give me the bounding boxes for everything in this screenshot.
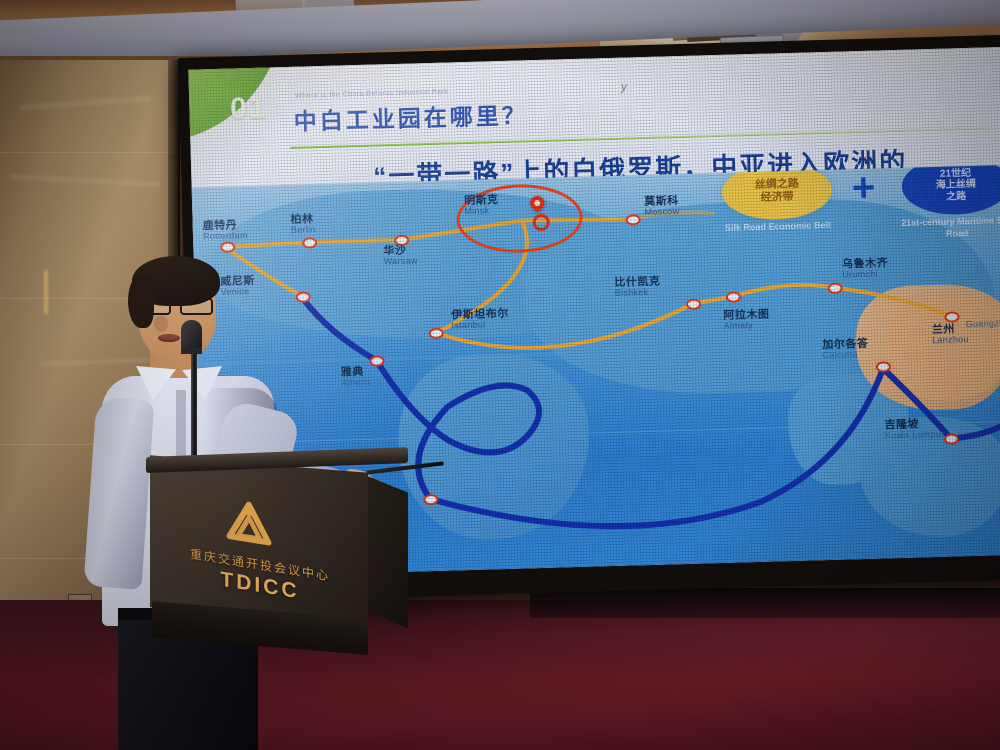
slide-heading-cn: 中白工业园在哪里？ xyxy=(293,96,528,137)
section-number: 01 xyxy=(230,92,268,127)
tdicc-triangle-logo-icon xyxy=(222,495,276,554)
legend-sea-line3: 之路 xyxy=(936,191,976,204)
podium-front-panel: 重庆交通开投会议中心 TDICC xyxy=(150,455,368,625)
city-label-bishkek: 比什凯克Bishkek xyxy=(614,277,661,298)
podium: 重庆交通开投会议中心 TDICC xyxy=(150,460,405,645)
legend-sea-en: 21st-century Maritime Silk Road xyxy=(893,215,1000,242)
city-label-istanbul: 伊斯坦布尔Istanbul xyxy=(451,309,509,331)
city-label-moscow: 莫斯科Moscow xyxy=(644,196,679,217)
slide-header: 01 Where is the China-Belarus Industrial… xyxy=(188,47,1000,188)
speaker-mouth xyxy=(158,334,180,342)
equals-icon: = xyxy=(990,173,1000,207)
city-label-calcutta: 加尔各答Calcutta xyxy=(822,339,869,360)
city-label-rotterdam: 鹿特丹Rotterdam xyxy=(203,220,248,241)
city-label-minsk: 明斯克Minsk xyxy=(464,195,499,216)
city-label-kuala-lumpur: 吉隆坡Kuala Lumpur xyxy=(884,419,944,441)
slide-heading-en: Where is the China-Belarus Industrial Pa… xyxy=(295,88,448,99)
plus-icon: + xyxy=(851,172,886,207)
city-label-guangzhou: Guangzhou xyxy=(966,319,1000,329)
microphone-stand xyxy=(191,338,197,474)
city-label-urumchi: 乌鲁木齐Urumchi xyxy=(842,258,889,279)
city-label-berlin: 柏林Berlin xyxy=(290,214,315,235)
legend-belt-line2: 经济带 xyxy=(755,191,799,205)
legend-belt-line1: 丝绸之路 xyxy=(755,178,799,192)
speaker-nose xyxy=(154,316,168,332)
speaker-hair-side xyxy=(128,274,154,328)
city-label-warsaw: 华沙Warsaw xyxy=(383,245,418,266)
microphone-collar xyxy=(181,348,202,354)
city-label-athens: 雅典Athens xyxy=(341,367,371,388)
photo-scene: 01 Where is the China-Belarus Industrial… xyxy=(0,0,1000,750)
stray-mark: y xyxy=(621,79,627,93)
legend-sea-line2: 海上丝绸 xyxy=(936,179,976,192)
city-label-almaty: 阿拉木图Almaty xyxy=(723,310,770,331)
city-label-lanzhou: 兰州Lanzhou xyxy=(932,324,969,345)
podium-side-panel xyxy=(366,476,408,629)
